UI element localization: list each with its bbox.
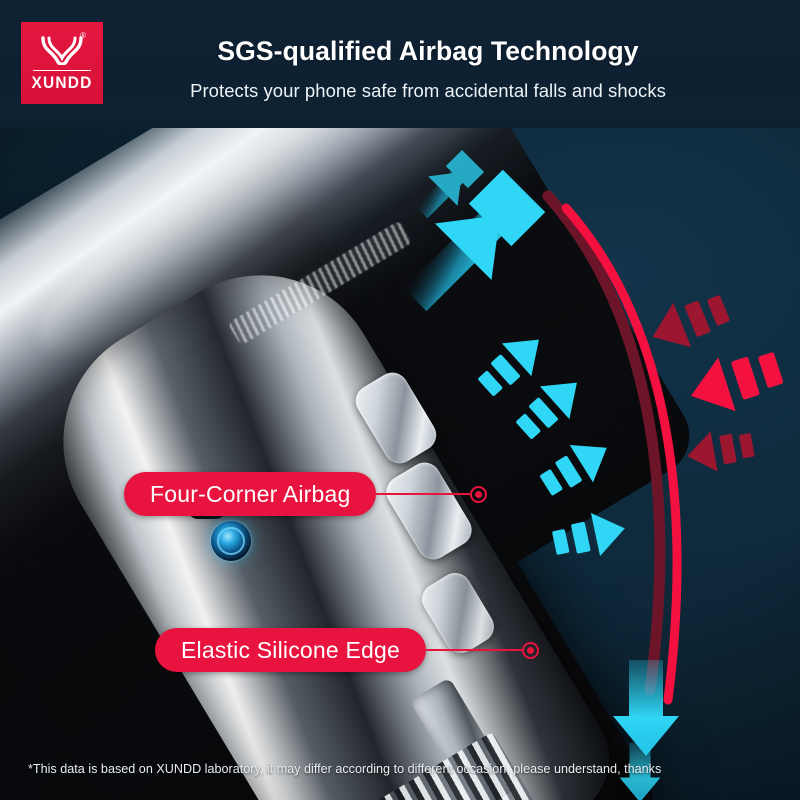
xundd-mark-icon: ®	[39, 35, 85, 65]
product-banner: Four-Corner Airbag Elastic Silicone Edge…	[0, 0, 800, 800]
registered-trademark-icon: ®	[80, 32, 86, 40]
callout-target-dot-icon	[470, 486, 487, 503]
brand-logo[interactable]: ® XUNDD	[21, 22, 103, 104]
callout-leader-line	[426, 649, 524, 652]
callout-label-elastic-silicone-edge[interactable]: Elastic Silicone Edge	[155, 628, 426, 672]
callout-label-four-corner-airbag[interactable]: Four-Corner Airbag	[124, 472, 376, 516]
footer-disclaimer: *This data is based on XUNDD laboratory,…	[28, 762, 661, 776]
logo-wordmark: XUNDD	[31, 75, 92, 94]
callout-elastic-silicone-edge[interactable]: Elastic Silicone Edge	[155, 628, 539, 672]
page-subtitle: Protects your phone safe from accidental…	[128, 80, 728, 102]
page-title: SGS-qualified Airbag Technology	[128, 36, 728, 67]
camera-lens-ring	[217, 527, 245, 555]
logo-divider	[33, 70, 91, 72]
callout-target-dot-icon	[522, 642, 539, 659]
product-image-phone-case	[0, 120, 590, 800]
callout-leader-line	[376, 493, 472, 496]
header-bar: ® XUNDD SGS-qualified Airbag Technology …	[0, 0, 800, 128]
callout-four-corner-airbag[interactable]: Four-Corner Airbag	[124, 472, 487, 516]
